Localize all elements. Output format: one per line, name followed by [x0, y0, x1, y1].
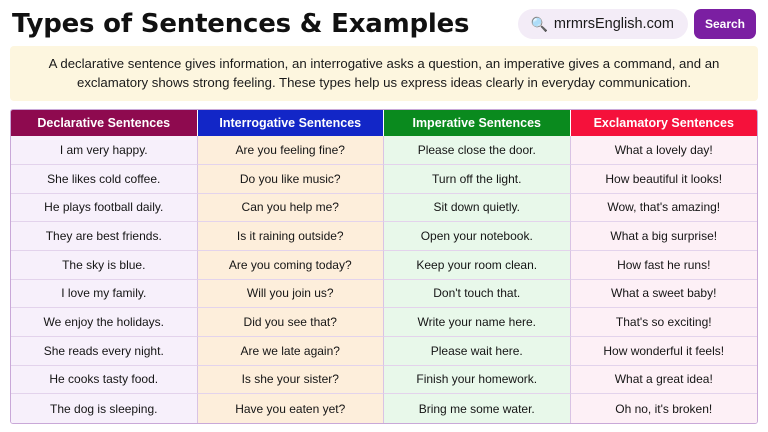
- table-cell: I love my family.: [11, 280, 198, 309]
- table-cell: Did you see that?: [198, 308, 385, 337]
- brand-search-group: 🔍 mrmrsEnglish.com Search: [518, 9, 756, 39]
- table-cell: Please wait here.: [384, 337, 571, 366]
- intro-paragraph: A declarative sentence gives information…: [10, 46, 758, 101]
- table-cell: That's so exciting!: [571, 308, 758, 337]
- table-body: I am very happy.Are you feeling fine?Ple…: [11, 136, 757, 423]
- table-cell: Open your notebook.: [384, 222, 571, 251]
- brand-label: mrmrsEnglish.com: [554, 16, 674, 32]
- table-row: We enjoy the holidays.Did you see that?W…: [11, 308, 757, 337]
- table-cell: Is it raining outside?: [198, 222, 385, 251]
- column-header-interrogative: Interrogative Sentences: [198, 110, 385, 136]
- table-cell: What a big surprise!: [571, 222, 758, 251]
- table-cell: Sit down quietly.: [384, 194, 571, 223]
- table-row: She likes cold coffee.Do you like music?…: [11, 165, 757, 194]
- table-cell: Write your name here.: [384, 308, 571, 337]
- table-cell: How wonderful it feels!: [571, 337, 758, 366]
- column-header-exclamatory: Exclamatory Sentences: [571, 110, 758, 136]
- page-title: Types of Sentences & Examples: [12, 9, 469, 39]
- table-cell: Turn off the light.: [384, 165, 571, 194]
- table-cell: Wow, that's amazing!: [571, 194, 758, 223]
- poster-root: Types of Sentences & Examples 🔍 mrmrsEng…: [0, 0, 768, 432]
- table-cell: We enjoy the holidays.: [11, 308, 198, 337]
- table-cell: Are you feeling fine?: [198, 136, 385, 165]
- table-cell: Can you help me?: [198, 194, 385, 223]
- table-cell: She reads every night.: [11, 337, 198, 366]
- header: Types of Sentences & Examples 🔍 mrmrsEng…: [8, 0, 760, 44]
- table-cell: The dog is sleeping.: [11, 394, 198, 423]
- table-row: He cooks tasty food.Is she your sister?F…: [11, 366, 757, 395]
- table-cell: What a sweet baby!: [571, 280, 758, 309]
- table-cell: Oh no, it's broken!: [571, 394, 758, 423]
- table-cell: Are we late again?: [198, 337, 385, 366]
- table-cell: How beautiful it looks!: [571, 165, 758, 194]
- search-button[interactable]: Search: [694, 9, 756, 39]
- sentence-types-table: Declarative Sentences Interrogative Sent…: [10, 109, 758, 424]
- table-cell: Is she your sister?: [198, 366, 385, 395]
- table-cell: What a great idea!: [571, 366, 758, 395]
- table-row: I love my family.Will you join us?Don't …: [11, 280, 757, 309]
- column-header-imperative: Imperative Sentences: [384, 110, 571, 136]
- table-cell: The sky is blue.: [11, 251, 198, 280]
- table-cell: Don't touch that.: [384, 280, 571, 309]
- table-cell: How fast he runs!: [571, 251, 758, 280]
- table-cell: What a lovely day!: [571, 136, 758, 165]
- table-cell: Are you coming today?: [198, 251, 385, 280]
- table-cell: Please close the door.: [384, 136, 571, 165]
- table-cell: Do you like music?: [198, 165, 385, 194]
- table-cell: I am very happy.: [11, 136, 198, 165]
- table-cell: She likes cold coffee.: [11, 165, 198, 194]
- table-cell: He plays football daily.: [11, 194, 198, 223]
- table-row: The dog is sleeping.Have you eaten yet?B…: [11, 394, 757, 423]
- table-cell: They are best friends.: [11, 222, 198, 251]
- table-row: The sky is blue.Are you coming today?Kee…: [11, 251, 757, 280]
- column-header-declarative: Declarative Sentences: [11, 110, 198, 136]
- table-row: She reads every night.Are we late again?…: [11, 337, 757, 366]
- table-cell: Keep your room clean.: [384, 251, 571, 280]
- table-cell: Bring me some water.: [384, 394, 571, 423]
- table-row: They are best friends.Is it raining outs…: [11, 222, 757, 251]
- table-header-row: Declarative Sentences Interrogative Sent…: [11, 110, 757, 136]
- search-icon: 🔍: [530, 17, 547, 31]
- table-cell: He cooks tasty food.: [11, 366, 198, 395]
- table-cell: Have you eaten yet?: [198, 394, 385, 423]
- table-cell: Finish your homework.: [384, 366, 571, 395]
- table-cell: Will you join us?: [198, 280, 385, 309]
- search-input[interactable]: 🔍 mrmrsEnglish.com: [518, 9, 687, 39]
- table-row: I am very happy.Are you feeling fine?Ple…: [11, 136, 757, 165]
- table-row: He plays football daily.Can you help me?…: [11, 194, 757, 223]
